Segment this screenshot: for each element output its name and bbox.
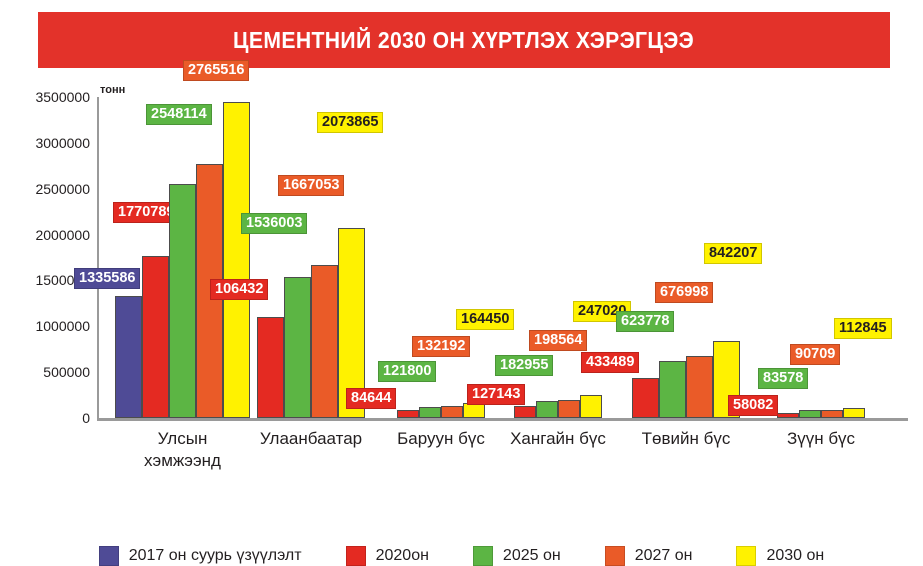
legend-item[interactable]: 2027 он — [605, 546, 693, 566]
plot-area: 1335586177078925481142765516344038710643… — [97, 97, 908, 420]
legend-item[interactable]: 2020он — [346, 546, 429, 566]
category-label-line: хэмжээнд — [103, 450, 263, 472]
bar-value-label: 1667053 — [278, 175, 344, 196]
bar[interactable]: 84644 — [397, 410, 419, 418]
bar-value-label: 198564 — [529, 330, 587, 351]
bar-value-label: 1536003 — [241, 213, 307, 234]
legend-item[interactable]: 2025 он — [473, 546, 561, 566]
title-banner: ЦЕМЕНТНИЙ 2030 ОН ХҮРТЛЭХ ХЭРЭГЦЭЭ — [38, 12, 890, 68]
bar-value-label: 2073865 — [317, 112, 383, 133]
legend-item[interactable]: 2017 он суурь үзүүлэлт — [99, 546, 302, 566]
bar-value-label: 2765516 — [183, 60, 249, 81]
bar-value-label: 84644 — [346, 388, 396, 409]
bar-value-label: 2548114 — [146, 104, 212, 125]
bars: 580828357890709112845 — [777, 97, 865, 418]
bar[interactable]: 106432 — [257, 317, 284, 418]
bar-value-label: 433489 — [581, 352, 639, 373]
bar[interactable]: 198564 — [558, 400, 580, 418]
legend-color-swatch — [99, 546, 119, 566]
bar-value-label: 121800 — [378, 361, 436, 382]
bar[interactable]: 2548114 — [169, 184, 196, 418]
bars: 106432153600316670532073865 — [257, 97, 365, 418]
bar[interactable]: 83578 — [799, 410, 821, 418]
bar[interactable]: 676998 — [686, 356, 713, 418]
y-axis-tick: 0 — [20, 410, 90, 426]
bar-value-label: 127143 — [467, 384, 525, 405]
chart-legend: 2017 он суурь үзүүлэлт2020он2025 он2027 … — [0, 546, 923, 566]
bar-chart: тонн 35000003000000250000020000001500000… — [0, 68, 923, 535]
legend-label: 2020он — [376, 547, 429, 565]
legend-label: 2027 он — [635, 547, 693, 565]
bar-value-label: 623778 — [616, 311, 674, 332]
bar-value-label: 842207 — [704, 243, 762, 264]
bar-value-label: 58082 — [728, 395, 778, 416]
bar[interactable]: 1335586 — [115, 296, 142, 418]
legend-color-swatch — [473, 546, 493, 566]
legend-item[interactable]: 2030 он — [736, 546, 824, 566]
bar-value-label: 90709 — [790, 344, 840, 365]
bar[interactable]: 121800 — [419, 407, 441, 418]
bar[interactable]: 127143 — [514, 406, 536, 418]
legend-label: 2017 он суурь үзүүлэлт — [129, 547, 302, 565]
bar-value-label: 1335586 — [74, 268, 140, 289]
legend-color-swatch — [605, 546, 625, 566]
y-axis-tick: 2000000 — [20, 227, 90, 243]
y-axis-line — [97, 97, 99, 420]
y-axis-tick: 500000 — [20, 364, 90, 380]
bar-value-label: 132192 — [412, 336, 470, 357]
bar[interactable]: 3440387 — [223, 102, 250, 418]
bar[interactable]: 182955 — [536, 401, 558, 418]
bar-value-label: 112845 — [834, 318, 892, 339]
y-axis-tick-labels: 3500000300000025000002000000150000010000… — [8, 97, 90, 420]
bar[interactable]: 112845 — [843, 408, 865, 418]
page-title: ЦЕМЕНТНИЙ 2030 ОН ХҮРТЛЭХ ХЭРЭГЦЭЭ — [233, 27, 694, 54]
y-axis-tick: 1000000 — [20, 318, 90, 334]
bar[interactable]: 623778 — [659, 361, 686, 418]
y-axis-unit-label: тонн — [100, 84, 125, 96]
x-axis-line — [97, 418, 908, 421]
bar[interactable]: 247020 — [580, 395, 602, 418]
bar[interactable]: 1770789 — [142, 256, 169, 418]
bars: 433489623778676998842207 — [632, 97, 740, 418]
bar[interactable]: 58082 — [777, 413, 799, 418]
y-axis-tick: 3000000 — [20, 135, 90, 151]
bar[interactable]: 132192 — [441, 406, 463, 418]
legend-color-swatch — [346, 546, 366, 566]
y-axis-tick: 3500000 — [20, 89, 90, 105]
bar-value-label: 106432 — [210, 279, 268, 300]
category-label-line: Зүүн бүс — [741, 428, 901, 450]
bar[interactable]: 90709 — [821, 410, 843, 418]
bar-value-label: 676998 — [655, 282, 713, 303]
legend-label: 2030 он — [766, 547, 824, 565]
y-axis-tick: 2500000 — [20, 181, 90, 197]
x-axis-category-label: Зүүн бүс — [741, 428, 901, 450]
bar[interactable]: 1667053 — [311, 265, 338, 418]
bars: 13355861770789254811427655163440387 — [115, 97, 250, 418]
bar-value-label: 83578 — [758, 368, 808, 389]
bar-value-label: 182955 — [495, 355, 553, 376]
bar-value-label: 164450 — [456, 309, 514, 330]
bar[interactable]: 433489 — [632, 378, 659, 418]
bar[interactable]: 1536003 — [284, 277, 311, 418]
bars: 84644121800132192164450 — [397, 97, 485, 418]
legend-label: 2025 он — [503, 547, 561, 565]
legend-color-swatch — [736, 546, 756, 566]
